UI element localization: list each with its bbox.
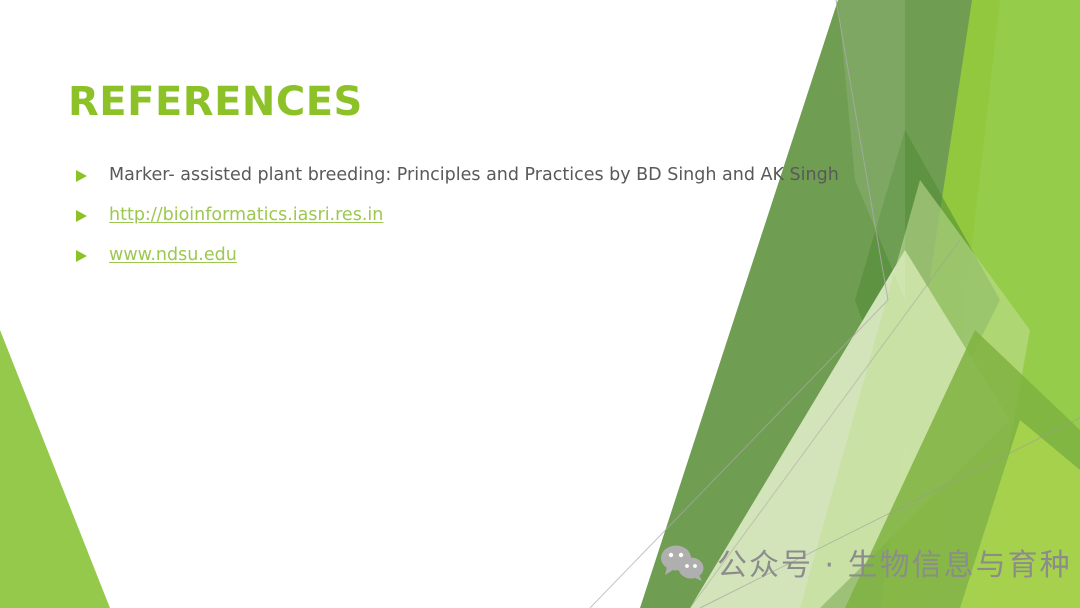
triangle-right-icon bbox=[74, 249, 88, 263]
right-olive-shape bbox=[640, 0, 1010, 608]
right-mid-band bbox=[930, 0, 1080, 608]
right-bright-band bbox=[880, 0, 1080, 608]
references-list: Marker- assisted plant breeding: Princip… bbox=[74, 162, 894, 282]
reference-text: Marker- assisted plant breeding: Princip… bbox=[109, 162, 839, 188]
triangle-right-icon bbox=[74, 209, 88, 223]
watermark-text: 公众号 · 生物信息与育种 bbox=[717, 540, 1072, 584]
reference-link[interactable]: www.ndsu.edu bbox=[109, 242, 237, 268]
list-item: http://bioinformatics.iasri.res.in bbox=[74, 202, 894, 230]
wechat-icon bbox=[660, 543, 706, 581]
page-title: REFERENCES bbox=[68, 79, 363, 125]
list-item: Marker- assisted plant breeding: Princip… bbox=[74, 162, 894, 190]
presentation-slide: REFERENCES Marker- assisted plant breedi… bbox=[0, 0, 1080, 608]
list-item: www.ndsu.edu bbox=[74, 242, 894, 270]
watermark: 公众号 · 生物信息与育种 bbox=[660, 540, 1072, 584]
reference-link[interactable]: http://bioinformatics.iasri.res.in bbox=[109, 202, 383, 228]
left-green-wedge bbox=[0, 330, 110, 608]
triangle-right-icon bbox=[74, 169, 88, 183]
